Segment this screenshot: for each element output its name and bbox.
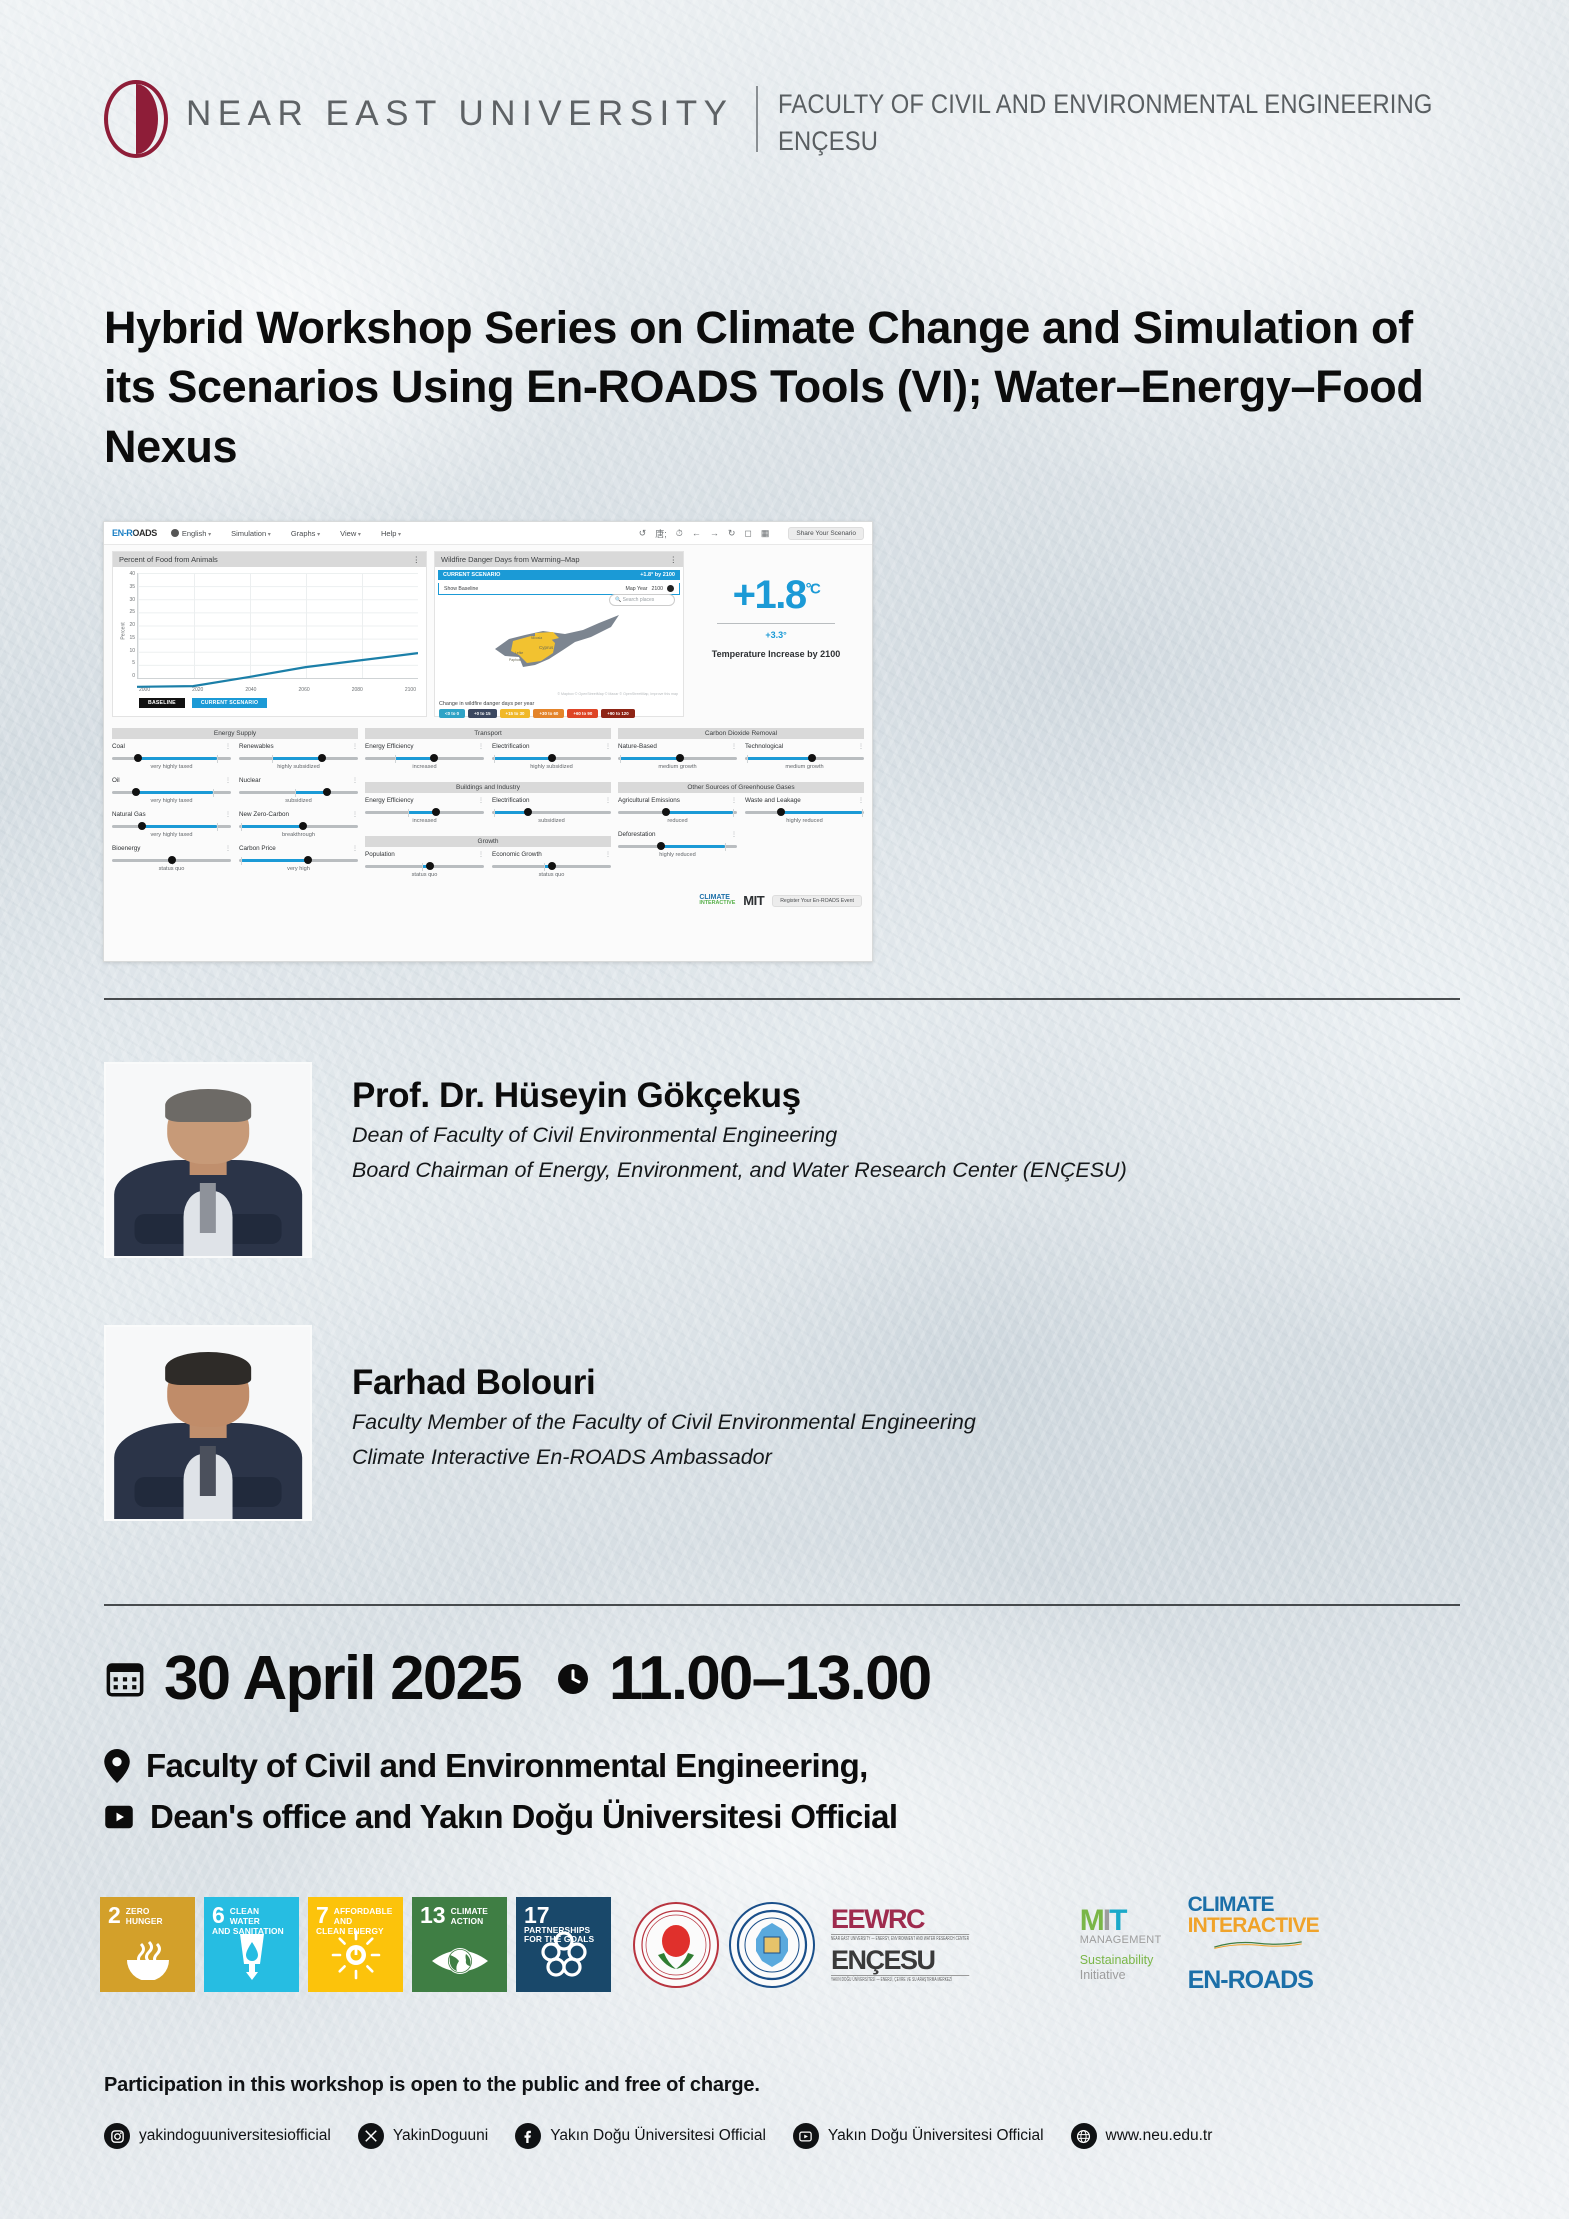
slider-label: Economic Growth⋮ (492, 851, 611, 858)
slider-knob[interactable] (548, 754, 556, 762)
slider-menu-icon[interactable]: ⋮ (605, 797, 611, 804)
enroads-toolbar: ↺ 唐; ⏱ ← → ↻ ◻ ▦ Share Your Scenario (639, 527, 864, 540)
line-chart: Percent 4035302520151050 200020202040206… (113, 567, 426, 695)
chart-ytick: 10 (129, 648, 135, 654)
slider-menu-icon[interactable]: ⋮ (731, 831, 737, 838)
slider-waste-and-leakage[interactable]: Waste and Leakage⋮highly reduced (745, 797, 864, 824)
globe-icon (171, 529, 179, 537)
wildfire-map-panel: Wildfire Danger Days from Warming–Map ⋮ … (434, 551, 684, 717)
location-pin-icon (104, 1749, 130, 1783)
sdg-icon-17: 17PARTNERSHIPSFOR THE GOALS (516, 1897, 611, 1992)
slider-track[interactable] (492, 807, 611, 817)
slider-track[interactable] (112, 753, 231, 763)
slider-economic-growth[interactable]: Economic Growth⋮status quo (492, 851, 611, 878)
slider-row: Deforestation⋮highly reduced (618, 831, 864, 865)
mit-sustainability-label: Sustainability (1080, 1953, 1162, 1968)
sdg-number: 6 (212, 1905, 225, 1926)
faculty-line-2: ENÇESU (778, 123, 1433, 160)
slider-group-header: Other Sources of Greenhouse Gases (618, 782, 864, 793)
slider-row: Nature-Based⋮medium growthTechnological⋮… (618, 743, 864, 777)
slider-track[interactable] (365, 807, 484, 817)
faculty-line-1: FACULTY OF CIVIL AND ENVIRONMENTAL ENGIN… (778, 86, 1433, 123)
mit-initiative-label: Initiative (1080, 1968, 1162, 1983)
svg-text:Nicosia: Nicosia (531, 636, 542, 640)
slider-track[interactable] (239, 787, 358, 797)
slider-knob[interactable] (548, 862, 556, 870)
sdg-pictogram-icon (100, 1940, 195, 1985)
social-link[interactable]: YakinDoguuni (358, 2123, 488, 2149)
svg-text:Cyprus: Cyprus (539, 645, 554, 650)
slider-track[interactable] (112, 855, 231, 865)
slider-menu-icon[interactable]: ⋮ (478, 797, 484, 804)
slider-value: medium growth (618, 764, 737, 770)
slider-row: Agricultural Emissions⋮reducedWaste and … (618, 797, 864, 831)
mit-wordmark: MIT (1080, 1907, 1162, 1934)
enroads-screenshot: EN-ROADS English Simulation Graphs View … (103, 521, 873, 962)
clock-icon (555, 1661, 591, 1697)
slider-knob[interactable] (432, 808, 440, 816)
map-scenario-bar: CURRENT SCENARIO +1.8° by 2100 (438, 570, 680, 580)
map-panel-header: Wildfire Danger Days from Warming–Map ⋮ (435, 552, 683, 567)
enroads-footer: CLIMATEINTERACTIVE MIT Register Your En-… (104, 893, 872, 912)
chamber-of-civil-engineers-logo-icon (729, 1902, 815, 1988)
divider-bottom (104, 1604, 1460, 1606)
social-link[interactable]: www.neu.edu.tr (1071, 2123, 1213, 2149)
youtube-icon (104, 1802, 134, 1832)
redo-icon[interactable]: 唐; (655, 527, 667, 540)
grid-icon[interactable]: ▦ (761, 528, 770, 539)
slider-label: Nature-Based⋮ (618, 743, 737, 750)
globe-icon[interactable] (1071, 2123, 1097, 2149)
slider-knob[interactable] (318, 754, 326, 762)
chart-ytick: 5 (132, 660, 135, 666)
slider-value: reduced (618, 818, 737, 824)
slider-row: Population⋮status quoEconomic Growth⋮sta… (365, 851, 611, 885)
sdg-pictogram-icon (516, 1930, 611, 1985)
map-legend-chips: <0 to 0+0 to 15+15 to 30+30 to 60+60 to … (435, 709, 683, 718)
slider-knob[interactable] (134, 754, 142, 762)
register-event-button[interactable]: Register Your En-ROADS Event (772, 895, 862, 907)
sdg-icon-2: 2ZEROHUNGER (100, 1897, 195, 1992)
slider-technological[interactable]: Technological⋮medium growth (745, 743, 864, 770)
event-date: 30 April 2025 (164, 1648, 521, 1710)
slider-label: Technological⋮ (745, 743, 864, 750)
slider-menu-icon[interactable]: ⋮ (478, 851, 484, 858)
legend-chip: +90 to 120 (601, 709, 634, 718)
menu-item-language[interactable]: English (171, 529, 211, 538)
enroads-menubar: EN-ROADS English Simulation Graphs View … (104, 522, 872, 545)
speaker-role-2: Climate Interactive En-ROADS Ambassador (352, 1442, 976, 1473)
avatar (104, 1062, 312, 1258)
menu-item-graphs[interactable]: Graphs (291, 529, 320, 538)
sdg-pictogram-icon (412, 1942, 507, 1985)
slider-track[interactable] (112, 821, 231, 831)
social-label: yakindoguuniversitesiofficial (139, 2127, 331, 2145)
speaker-card-1: Prof. Dr. Hüseyin Gökçekuş Dean of Facul… (104, 1062, 1127, 1258)
chart-ytick: 40 (129, 571, 135, 577)
slider-value: very high (239, 866, 358, 872)
camera-icon[interactable]: ◻ (744, 528, 751, 539)
event-time: 11.00–13.00 (609, 1648, 931, 1710)
slider-track[interactable] (239, 821, 358, 831)
slider-menu-icon[interactable]: ⋮ (478, 743, 484, 750)
legend-chip: +15 to 30 (500, 709, 531, 718)
slider-knob[interactable] (777, 808, 785, 816)
poster-header: NEAR EAST UNIVERSITY FACULTY OF CIVIL AN… (104, 78, 1521, 161)
chart-ytick: 25 (129, 609, 135, 615)
interactive-wordmark: INTERACTIVE (1188, 1915, 1328, 1936)
slider-electrification[interactable]: Electrification⋮subsidized (492, 797, 611, 824)
faculty-name: FACULTY OF CIVIL AND ENVIRONMENTAL ENGIN… (778, 86, 1522, 161)
undo-icon[interactable]: ↺ (639, 528, 647, 539)
map-menu-icon[interactable]: ⋮ (670, 555, 678, 564)
social-link[interactable]: Yakın Doğu Üniversitesi Official (515, 2123, 766, 2149)
mit-sustainability-logo-icon: MIT MANAGEMENT Sustainability Initiative (1080, 1907, 1162, 1983)
slider-label: Electrification⋮ (492, 797, 611, 804)
slider-value: status quo (492, 872, 611, 878)
chart-title: Percent of Food from Animals (119, 555, 218, 564)
chart-ytick: 30 (129, 597, 135, 603)
instagram-icon[interactable] (104, 2123, 130, 2149)
menu-item-simulation[interactable]: Simulation (231, 529, 271, 538)
slider-track[interactable] (239, 753, 358, 763)
menu-item-help[interactable]: Help (381, 529, 401, 538)
enroads-panels: Percent of Food from Animals ⋮ Percent 4… (104, 545, 872, 717)
university-name: NEAR EAST UNIVERSITY (186, 94, 734, 134)
slider-knob[interactable] (524, 808, 532, 816)
search-places-input[interactable]: 🔍 Search places (609, 594, 675, 606)
slider-track[interactable] (745, 753, 864, 763)
event-location: Faculty of Civil and Environmental Engin… (146, 1747, 868, 1785)
speaker-role-1: Dean of Faculty of Civil Environmental E… (352, 1120, 1127, 1151)
slider-track[interactable] (365, 861, 484, 871)
slider-value: subsidized (492, 818, 611, 824)
map-year-label: Map Year (626, 586, 648, 592)
map-year-value: 2100 (651, 586, 663, 592)
slider-knob[interactable] (132, 788, 140, 796)
climate-interactive-enroads-logo-icon: CLIMATE INTERACTIVE EN-ROADS (1188, 1894, 1328, 1995)
near-east-university-logo-icon (104, 80, 168, 158)
slider-menu-icon[interactable]: ⋮ (605, 851, 611, 858)
event-location-row: Faculty of Civil and Environmental Engin… (104, 1747, 868, 1785)
event-channel-row: Dean's office and Yakın Doğu Üniversites… (104, 1798, 897, 1836)
slider-label: Agricultural Emissions⋮ (618, 797, 737, 804)
slider-menu-icon[interactable]: ⋮ (731, 743, 737, 750)
mit-management-label: MANAGEMENT (1080, 1934, 1162, 1946)
temperature-delta: +3.3° (691, 630, 861, 640)
slider-track[interactable] (112, 787, 231, 797)
svg-text:Paphos: Paphos (509, 658, 521, 662)
eewrc-wordmark: EEWRC (831, 1906, 1054, 1933)
speaker-role-1: Faculty Member of the Faculty of Civil E… (352, 1407, 976, 1438)
social-label: YakinDoguuni (393, 2127, 488, 2145)
back-icon[interactable]: ← (692, 528, 701, 538)
encesu-subtitle: YAKIN DOĞU ÜNİVERSİTESİ — ENERJİ, ÇEVRE … (831, 1975, 969, 1983)
eewrc-subtitle: NEAR EAST UNIVERSITY — ENERGY, ENVIRONME… (831, 1934, 969, 1942)
slider-track[interactable] (618, 841, 737, 851)
chart-ytick: 0 (132, 673, 135, 679)
partner-logos-strip: 2ZEROHUNGER6CLEAN WATERAND SANITATION7AF… (100, 1894, 1328, 1995)
slider-knob[interactable] (323, 788, 331, 796)
speaker-card-2: Farhad Bolouri Faculty Member of the Fac… (104, 1325, 976, 1521)
sdg-icon-6: 6CLEAN WATERAND SANITATION (204, 1897, 299, 1992)
slider-deforestation[interactable]: Deforestation⋮highly reduced (618, 831, 737, 858)
sdg-pictogram-icon (204, 1930, 299, 1985)
enroads-wordmark: EN-ROADS (1188, 1966, 1328, 1995)
speaker-name: Farhad Bolouri (352, 1363, 976, 1403)
slider-knob[interactable] (168, 856, 176, 864)
slider-menu-icon[interactable]: ⋮ (858, 743, 864, 750)
chart-ytick: 35 (129, 584, 135, 590)
slider-knob[interactable] (676, 754, 684, 762)
social-label: www.neu.edu.tr (1106, 2127, 1213, 2145)
social-links-row: yakindoguuniversitesiofficialYakinDoguun… (104, 2123, 1230, 2149)
forward-icon[interactable]: → (710, 528, 719, 538)
chart-menu-icon[interactable]: ⋮ (413, 555, 421, 564)
slider-knob[interactable] (304, 856, 312, 864)
sdg-number: 17 (524, 1905, 550, 1926)
sdg-number: 2 (108, 1905, 121, 1926)
social-link[interactable]: Yakın Doğu Üniversitesi Official (793, 2123, 1044, 2149)
climate-wordmark: CLIMATE (1188, 1894, 1328, 1915)
map-legend-caption: Change in wildfire danger days per year (435, 698, 683, 709)
slider-track[interactable] (618, 807, 737, 817)
cyprus-map[interactable]: CURRENT SCENARIO +1.8° by 2100 Show Base… (435, 570, 683, 698)
slider-value: highly reduced (745, 818, 864, 824)
event-datetime: 30 April 2025 11.00–13.00 (104, 1648, 930, 1710)
calendar-icon (104, 1658, 146, 1700)
slider-label: Waste and Leakage⋮ (745, 797, 864, 804)
map-year-knob[interactable] (667, 585, 674, 592)
slider-label: Deforestation⋮ (618, 831, 737, 838)
slider-nature-based[interactable]: Nature-Based⋮medium growth (618, 743, 737, 770)
slider-label: Electrification⋮ (492, 743, 611, 750)
map-attribution: © Mapbox © OpenStreetMap © Maxar © OpenS… (557, 692, 678, 696)
participation-note: Participation in this workshop is open t… (104, 2074, 760, 2097)
sdg-number: 13 (420, 1905, 446, 1926)
slider-agricultural-emissions[interactable]: Agricultural Emissions⋮reduced (618, 797, 737, 824)
social-link[interactable]: yakindoguuniversitesiofficial (104, 2123, 331, 2149)
slider-knob[interactable] (657, 842, 665, 850)
sdg-icons: 2ZEROHUNGER6CLEAN WATERAND SANITATION7AF… (100, 1897, 611, 1992)
legend-chip: +30 to 60 (533, 709, 564, 718)
temperature-readout: +1.8°C +3.3° Temperature Increase by 210… (691, 551, 861, 717)
legend-chip: +0 to 15 (468, 709, 496, 718)
slider-menu-icon[interactable]: ⋮ (858, 797, 864, 804)
temperature-caption: Temperature Increase by 2100 (691, 648, 861, 660)
slider-value: medium growth (745, 764, 864, 770)
sdg-icon-13: 13CLIMATEACTION (412, 1897, 507, 1992)
slider-value: status quo (365, 872, 484, 878)
divider-top (104, 998, 1460, 1000)
enroads-logo-icon: EN-ROADS (112, 528, 157, 538)
svg-text:Lefke: Lefke (515, 651, 523, 655)
slider-electrification[interactable]: Electrification⋮highly subsidized (492, 743, 611, 770)
map-scenario-label: CURRENT SCENARIO (443, 572, 500, 578)
map-title: Wildfire Danger Days from Warming–Map (441, 555, 580, 564)
slider-knob[interactable] (299, 822, 307, 830)
cyprus-map-shape: Cyprus Lefke Paphos Nicosia (479, 609, 629, 675)
x-twitter-icon[interactable] (358, 2123, 384, 2149)
slider-track[interactable] (492, 861, 611, 871)
slider-knob[interactable] (430, 754, 438, 762)
enroads-wave-icon (1188, 1940, 1328, 1949)
eewrc-encesu-logo-icon: EEWRC NEAR EAST UNIVERSITY — ENERGY, ENV… (831, 1906, 1054, 1983)
enroads-menu: English Simulation Graphs View Help (171, 529, 401, 538)
sdg-number: 7 (316, 1905, 329, 1926)
chart-ytick: 15 (129, 635, 135, 641)
legend-chip: <0 to 0 (439, 709, 465, 718)
youtube-icon[interactable] (793, 2123, 819, 2149)
temperature-rule (717, 623, 835, 624)
header-divider (756, 86, 758, 152)
slider-knob[interactable] (138, 822, 146, 830)
slider-value: highly subsidized (492, 764, 611, 770)
sdg-icon-7: 7AFFORDABLE ANDCLEAN ENERGY (308, 1897, 403, 1992)
facebook-icon[interactable] (515, 2123, 541, 2149)
food-from-animals-panel: Percent of Food from Animals ⋮ Percent 4… (112, 551, 427, 717)
mit-logo-icon: MIT (743, 893, 764, 908)
slider-track[interactable] (618, 753, 737, 763)
gonyeli-alaykoy-municipality-logo-icon (633, 1902, 719, 1988)
speaker-role-2: Board Chairman of Energy, Environment, a… (352, 1155, 1127, 1186)
slider-group-header: Carbon Dioxide Removal (618, 728, 864, 739)
slider-menu-icon[interactable]: ⋮ (605, 743, 611, 750)
legend-chip: +60 to 90 (567, 709, 598, 718)
chart-yticks: 4035302520151050 (119, 571, 135, 679)
slider-knob[interactable] (662, 808, 670, 816)
share-scenario-button[interactable]: Share Your Scenario (788, 527, 864, 540)
slider-track[interactable] (239, 855, 358, 865)
chart-ytick: 20 (129, 622, 135, 628)
slider-track[interactable] (365, 753, 484, 763)
show-baseline-toggle[interactable]: Show Baseline (444, 586, 478, 592)
slider-population[interactable]: Population⋮status quo (365, 851, 484, 878)
slider-knob[interactable] (808, 754, 816, 762)
avatar (104, 1325, 312, 1521)
slider-track[interactable] (492, 753, 611, 763)
speaker-name: Prof. Dr. Hüseyin Gökçekuş (352, 1076, 1127, 1116)
history-icon[interactable]: ⏱ (676, 528, 683, 539)
map-scenario-value: +1.8° by 2100 (640, 572, 675, 578)
slider-menu-icon[interactable]: ⋮ (731, 797, 737, 804)
social-label: Yakın Doğu Üniversitesi Official (828, 2127, 1044, 2145)
chart-panel-header: Percent of Food from Animals ⋮ (113, 552, 426, 567)
social-label: Yakın Doğu Üniversitesi Official (550, 2127, 766, 2145)
reset-icon[interactable]: ↻ (728, 528, 736, 539)
slider-track[interactable] (745, 807, 864, 817)
menu-item-view[interactable]: View (340, 529, 361, 538)
event-channel: Dean's office and Yakın Doğu Üniversites… (150, 1798, 897, 1836)
temperature-value: +1.8°C (691, 575, 861, 615)
sdg-pictogram-icon (308, 1930, 403, 1985)
slider-column: Carbon Dioxide RemovalNature-Based⋮mediu… (618, 723, 864, 885)
slider-value: status quo (112, 866, 231, 872)
climate-interactive-logo-icon: CLIMATEINTERACTIVE (699, 895, 735, 907)
slider-empty (745, 831, 864, 858)
slider-knob[interactable] (426, 862, 434, 870)
encesu-wordmark: ENÇESU (831, 1947, 1054, 1974)
slider-value: highly reduced (618, 852, 737, 858)
page-title: Hybrid Workshop Series on Climate Change… (104, 298, 1444, 476)
